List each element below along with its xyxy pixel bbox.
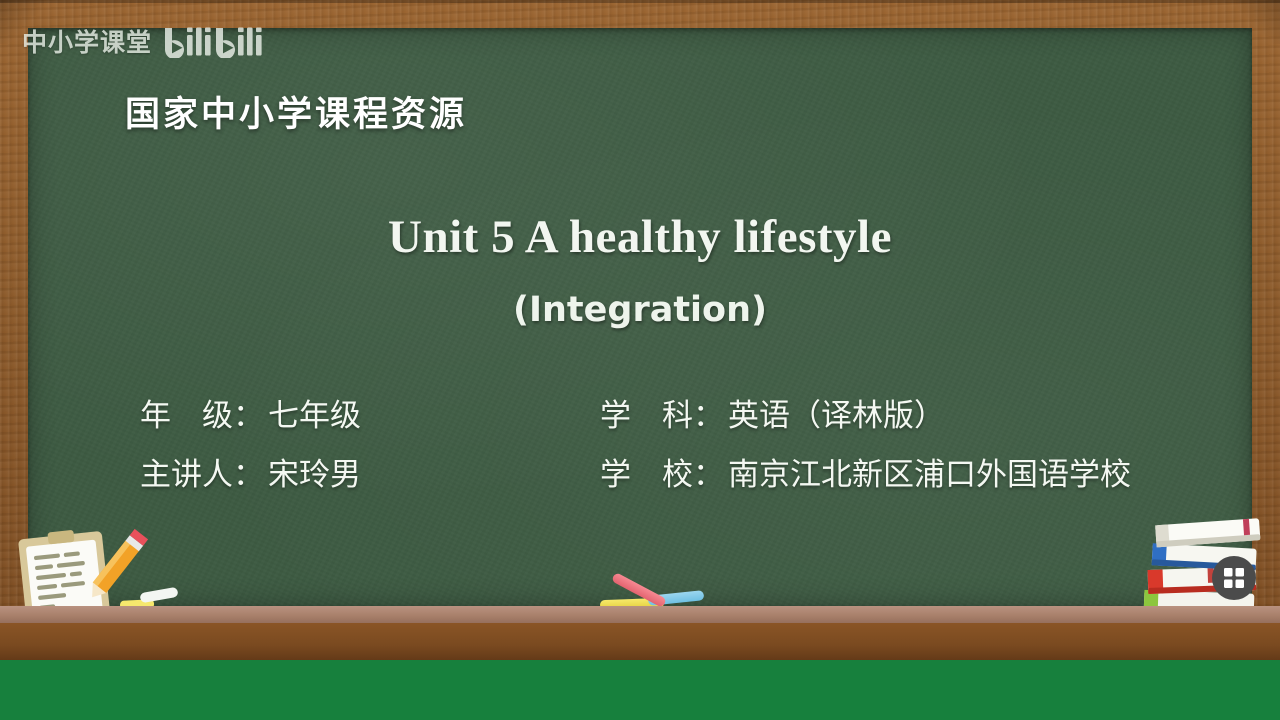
window-grid-icon — [1212, 556, 1256, 600]
bilibili-logo-icon — [163, 26, 265, 58]
meta-item-subject: 学 科： 英语（译林版） — [600, 390, 1250, 435]
watermark-text: 中小学课堂 — [22, 30, 152, 55]
meta-label-grade: 年 级： — [140, 390, 264, 435]
bottom-green-strip — [0, 660, 1280, 720]
meta-value-subject: 英语（译林版） — [728, 390, 945, 435]
meta-value-school: 南京江北新区浦口外国语学校 — [728, 449, 1131, 494]
organization-title: 国家中小学课程资源 — [125, 98, 467, 133]
lesson-title: Unit 5 A healthy lifestyle — [0, 210, 1280, 264]
meta-label-lecturer: 主讲人： — [140, 449, 264, 494]
channel-watermark: 中小学课堂 — [22, 26, 265, 58]
lesson-meta-grid: 年 级： 七年级 学 科： 英语（译林版） 主讲人： 宋玲男 学 校： 南京江北… — [140, 390, 1250, 494]
slide-root: 中小学课堂 — [0, 0, 1280, 720]
frame-edge-top — [0, 0, 1280, 3]
chalk-ledge-body — [0, 623, 1280, 660]
chalk-ledge-top — [0, 606, 1280, 623]
meta-label-subject: 学 科： — [600, 390, 724, 435]
meta-item-school: 学 校： 南京江北新区浦口外国语学校 — [600, 449, 1250, 494]
meta-value-lecturer: 宋玲男 — [268, 449, 361, 494]
meta-item-grade: 年 级： 七年级 — [140, 390, 600, 435]
meta-label-school: 学 校： — [600, 449, 724, 494]
lesson-subtitle: (Integration) — [0, 290, 1280, 330]
meta-item-lecturer: 主讲人： 宋玲男 — [140, 449, 600, 494]
meta-value-grade: 七年级 — [268, 390, 361, 435]
